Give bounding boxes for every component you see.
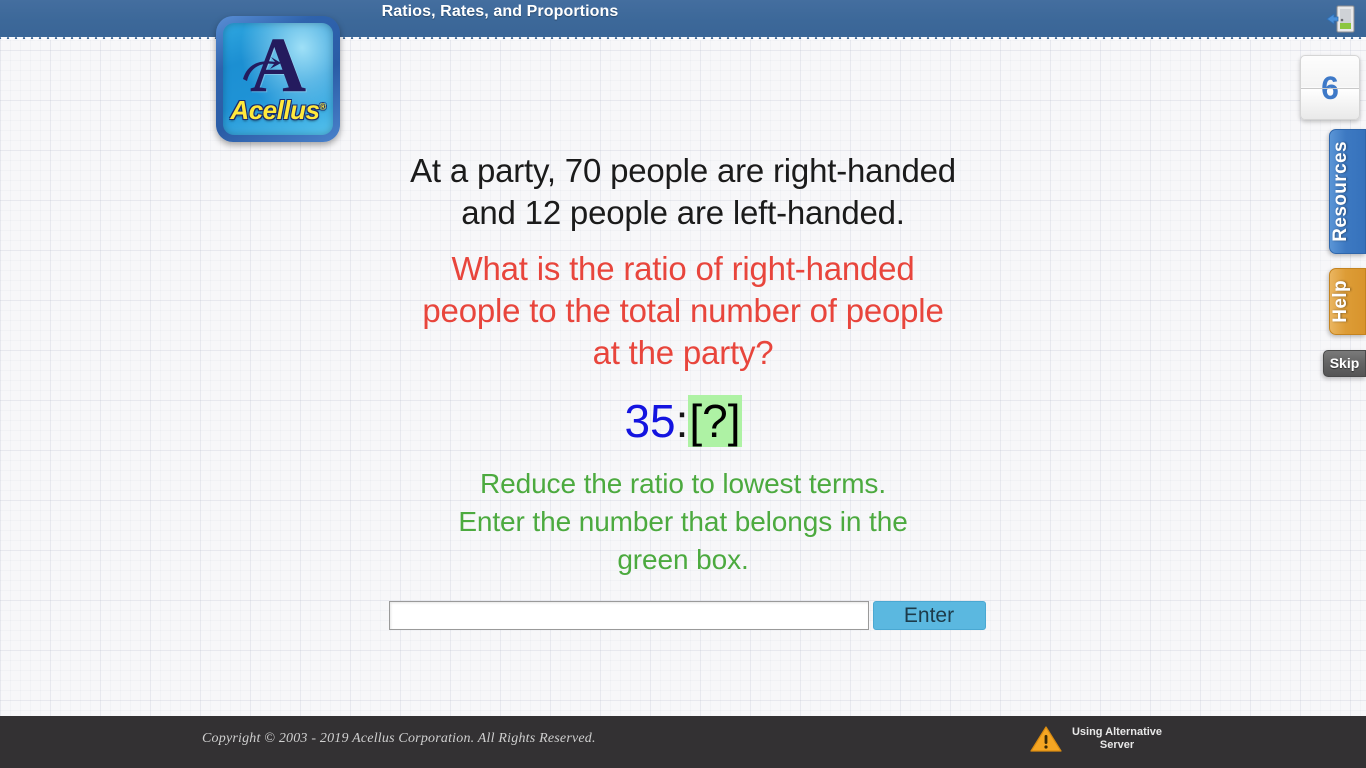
question-area: At a party, 70 people are right-handed a… xyxy=(0,150,1366,630)
exit-door-icon[interactable] xyxy=(1324,2,1358,36)
hint-line-1: Reduce the ratio to lowest terms. xyxy=(0,465,1366,503)
app-header: Ratios, Rates, and Proportions xyxy=(0,0,1366,39)
problem-counter-value: 6 xyxy=(1301,72,1359,104)
resources-tab-label: Resources xyxy=(1330,130,1352,253)
hint-line-2: Enter the number that belongs in the xyxy=(0,503,1366,541)
app-footer: Copyright © 2003 - 2019 Acellus Corporat… xyxy=(0,716,1366,768)
question-prompt-line-2: and 12 people are left-handed. xyxy=(0,192,1366,234)
problem-counter: 6 xyxy=(1300,55,1360,120)
help-tab-label: Help xyxy=(1330,269,1352,334)
server-status-line-1: Using Alternative xyxy=(1071,726,1163,739)
acellus-lesson-page: Ratios, Rates, and Proportions A Acellus… xyxy=(0,0,1366,768)
skip-button[interactable]: Skip xyxy=(1323,350,1366,377)
answer-row: Enter xyxy=(0,601,1366,630)
skip-button-label: Skip xyxy=(1324,351,1365,376)
question-ask-line-3: at the party? xyxy=(0,332,1366,374)
logo-trademark: ® xyxy=(319,101,325,111)
logo-inner: A Acellus® xyxy=(223,23,333,135)
ratio-answer-blank: [?] xyxy=(688,395,741,447)
enter-button[interactable]: Enter xyxy=(873,601,986,630)
logo-wordmark: Acellus® xyxy=(223,95,333,126)
resources-tab[interactable]: Resources xyxy=(1329,129,1366,254)
ratio-expression: 35:[?] xyxy=(0,393,1366,449)
ratio-known-term: 35 xyxy=(624,395,675,447)
acellus-logo[interactable]: A Acellus® xyxy=(216,16,340,142)
answer-input[interactable] xyxy=(389,601,869,630)
server-status-text: Using Alternative Server xyxy=(1071,726,1163,752)
question-ask-line-2: people to the total number of people xyxy=(0,290,1366,332)
hint-line-3: green box. xyxy=(0,541,1366,579)
question-ask-line-1: What is the ratio of right-handed xyxy=(0,248,1366,290)
help-tab[interactable]: Help xyxy=(1329,268,1366,335)
server-status: Using Alternative Server xyxy=(1030,725,1163,753)
header-scallop-edge xyxy=(0,37,1366,44)
server-status-line-2: Server xyxy=(1071,739,1163,752)
ratio-separator: : xyxy=(676,395,689,447)
logo-swoosh-icon xyxy=(241,57,281,83)
warning-triangle-icon xyxy=(1030,725,1062,753)
copyright-text: Copyright © 2003 - 2019 Acellus Corporat… xyxy=(202,731,596,747)
question-prompt-line-1: At a party, 70 people are right-handed xyxy=(0,150,1366,192)
page-title: Ratios, Rates, and Proportions xyxy=(0,3,1000,21)
logo-wordmark-text: Acellus xyxy=(230,95,319,125)
